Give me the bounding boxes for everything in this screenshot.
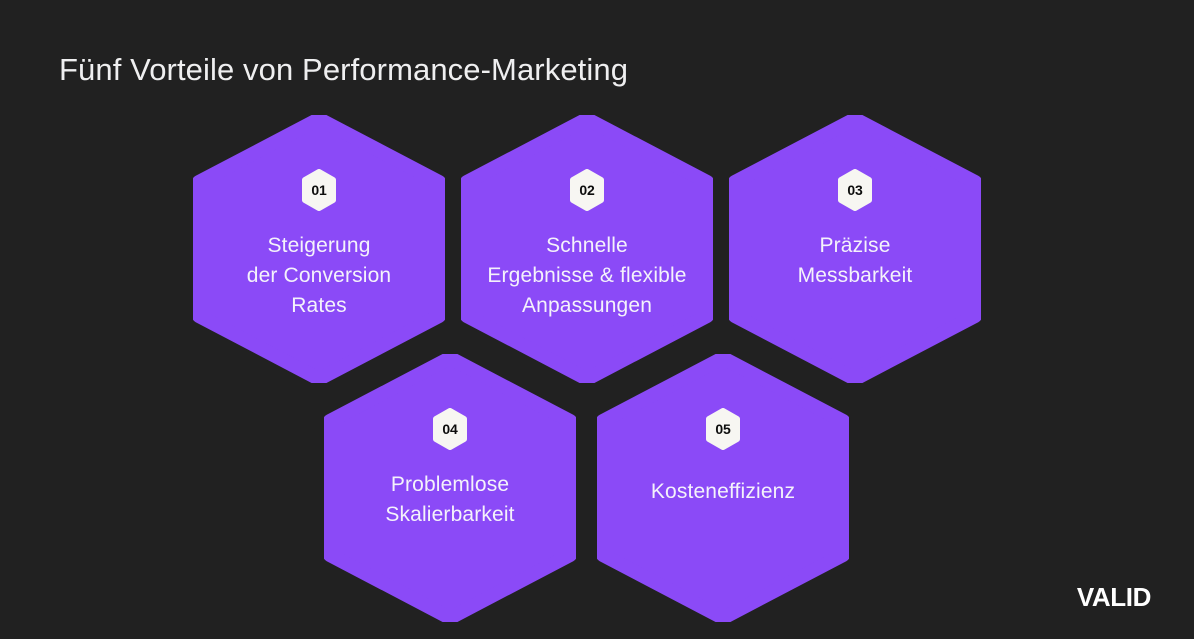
hexagon-card-04[interactable]: 04 Problemlose Skalierbarkeit [324, 354, 576, 622]
hexagon-shape-icon [193, 115, 445, 383]
hexagon-card-02[interactable]: 02 Schnelle Ergebnisse & flexible Anpass… [461, 115, 713, 383]
brand-logo: VALID [1077, 584, 1151, 610]
hexagon-grid: 01 Steigerung der Conversion Rates 0 [0, 0, 1194, 639]
hexagon-shape-icon [729, 115, 981, 383]
hexagon-shape-icon [461, 115, 713, 383]
hexagon-shape-icon [324, 354, 576, 622]
hexagon-card-05[interactable]: 05 Kosteneffizienz [597, 354, 849, 622]
slide-canvas: Fünf Vorteile von Performance-Marketing … [0, 0, 1194, 639]
hexagon-shape-icon [597, 354, 849, 622]
hexagon-card-03[interactable]: 03 Präzise Messbarkeit [729, 115, 981, 383]
hexagon-card-01[interactable]: 01 Steigerung der Conversion Rates [193, 115, 445, 383]
